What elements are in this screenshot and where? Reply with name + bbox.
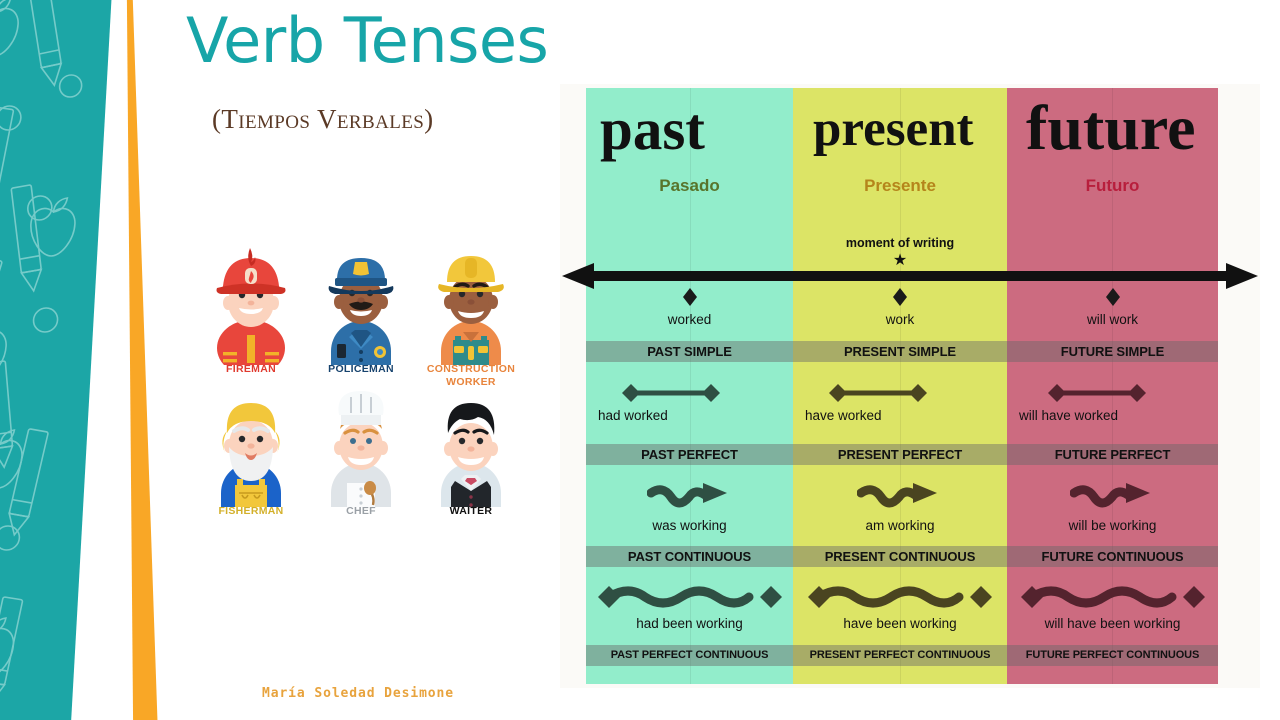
cell-future-simple: will work bbox=[1007, 284, 1218, 328]
verb-tense-timeline-chart: past present future Pasado Presente Futu… bbox=[560, 84, 1260, 688]
era-subtitle-present: Presente bbox=[793, 176, 1007, 196]
cell-future-continuous: will be working bbox=[1007, 480, 1218, 534]
school-supplies-pattern-icon bbox=[0, 0, 112, 720]
verb-form: am working bbox=[793, 518, 1007, 534]
person-fisherman: FISHERMAN bbox=[196, 389, 306, 518]
cell-future-perfect-continuous: will have been working bbox=[1007, 580, 1218, 632]
band-future-simple: FUTURE SIMPLE bbox=[1007, 341, 1218, 362]
verb-form: work bbox=[793, 312, 1007, 328]
cell-present-perfect-continuous: have been working bbox=[793, 580, 1007, 632]
verb-form: have worked bbox=[803, 408, 953, 424]
verb-form: will have been working bbox=[1007, 616, 1218, 632]
policeman-avatar-icon bbox=[306, 240, 416, 365]
band-past-perfect: PAST PERFECT bbox=[586, 444, 793, 465]
era-subtitle-future: Futuro bbox=[1007, 176, 1218, 196]
segment-diamond-marker bbox=[803, 380, 953, 406]
verb-form: will have worked bbox=[1017, 408, 1177, 424]
fireman-avatar-icon bbox=[196, 240, 306, 365]
wavy-segment-marker bbox=[793, 580, 1007, 614]
era-title-present: present bbox=[813, 104, 974, 155]
verb-form: will be working bbox=[1007, 518, 1218, 534]
cell-past-continuous: was working bbox=[586, 480, 793, 534]
era-title-future: future bbox=[1026, 96, 1195, 160]
band-present-continuous: PRESENT CONTINUOUS bbox=[793, 546, 1007, 567]
verb-form: worked bbox=[586, 312, 793, 328]
sidebar-teal-panel bbox=[0, 0, 112, 720]
chef-avatar-icon bbox=[306, 389, 416, 507]
fisherman-avatar-icon bbox=[196, 389, 306, 507]
cell-present-simple: work bbox=[793, 284, 1007, 328]
construction-worker-avatar-icon bbox=[416, 240, 526, 365]
cell-future-perfect: will have worked bbox=[1017, 380, 1177, 424]
verb-form: was working bbox=[586, 518, 793, 534]
cell-present-perfect: have worked bbox=[803, 380, 953, 424]
cell-past-simple: worked bbox=[586, 284, 793, 328]
verb-form: have been working bbox=[793, 616, 1007, 632]
wavy-arrow-marker bbox=[1007, 480, 1218, 516]
person-chef: CHEF bbox=[306, 389, 416, 518]
person-fireman: FIREMAN bbox=[196, 240, 306, 389]
band-future-perfect: FUTURE PERFECT bbox=[1007, 444, 1218, 465]
band-future-continuous: FUTURE CONTINUOUS bbox=[1007, 546, 1218, 567]
band-present-perfect: PRESENT PERFECT bbox=[793, 444, 1007, 465]
segment-diamond-marker bbox=[596, 380, 746, 406]
page-subtitle: (Tiempos Verbales) bbox=[212, 103, 434, 135]
wavy-segment-marker bbox=[586, 580, 793, 614]
timeline-double-arrow-icon bbox=[560, 262, 1260, 290]
sidebar-orange-stripe bbox=[118, 0, 158, 720]
segment-diamond-marker bbox=[1017, 380, 1177, 406]
person-construction-worker: CONSTRUCTION WORKER bbox=[416, 240, 526, 389]
era-title-past: past bbox=[600, 100, 705, 159]
decorative-sidebar bbox=[0, 0, 160, 720]
occupations-grid: FIREMAN bbox=[196, 240, 526, 518]
era-subtitle-past: Pasado bbox=[586, 176, 793, 196]
band-past-perfect-continuous: PAST PERFECT CONTINUOUS bbox=[586, 645, 793, 666]
moment-of-writing-label: moment of writing bbox=[793, 236, 1007, 250]
cell-past-perfect: had worked bbox=[596, 380, 746, 424]
wavy-segment-marker bbox=[1007, 580, 1218, 614]
occupations-row: FIREMAN bbox=[196, 240, 526, 389]
person-waiter: WAITER bbox=[416, 389, 526, 518]
band-past-continuous: PAST CONTINUOUS bbox=[586, 546, 793, 567]
band-present-perfect-continuous: PRESENT PERFECT CONTINUOUS bbox=[793, 645, 1007, 666]
verb-form: will work bbox=[1007, 312, 1218, 328]
person-label: CONSTRUCTION WORKER bbox=[416, 363, 526, 389]
author-credit: María Soledad Desimone bbox=[262, 686, 454, 701]
waiter-avatar-icon bbox=[416, 389, 526, 507]
wavy-arrow-marker bbox=[793, 480, 1007, 516]
timeline-columns: past present future Pasado Presente Futu… bbox=[586, 88, 1218, 684]
band-past-simple: PAST SIMPLE bbox=[586, 341, 793, 362]
wavy-arrow-marker bbox=[586, 480, 793, 516]
cell-present-continuous: am working bbox=[793, 480, 1007, 534]
cell-past-perfect-continuous: had been working bbox=[586, 580, 793, 632]
verb-form: had worked bbox=[596, 408, 746, 424]
occupations-row: FISHERMAN bbox=[196, 389, 526, 518]
page-title: Verb Tenses bbox=[186, 6, 548, 76]
verb-form: had been working bbox=[586, 616, 793, 632]
band-present-simple: PRESENT SIMPLE bbox=[793, 341, 1007, 362]
person-policeman: POLICEMAN bbox=[306, 240, 416, 389]
band-future-perfect-continuous: FUTURE PERFECT CONTINUOUS bbox=[1007, 645, 1218, 666]
